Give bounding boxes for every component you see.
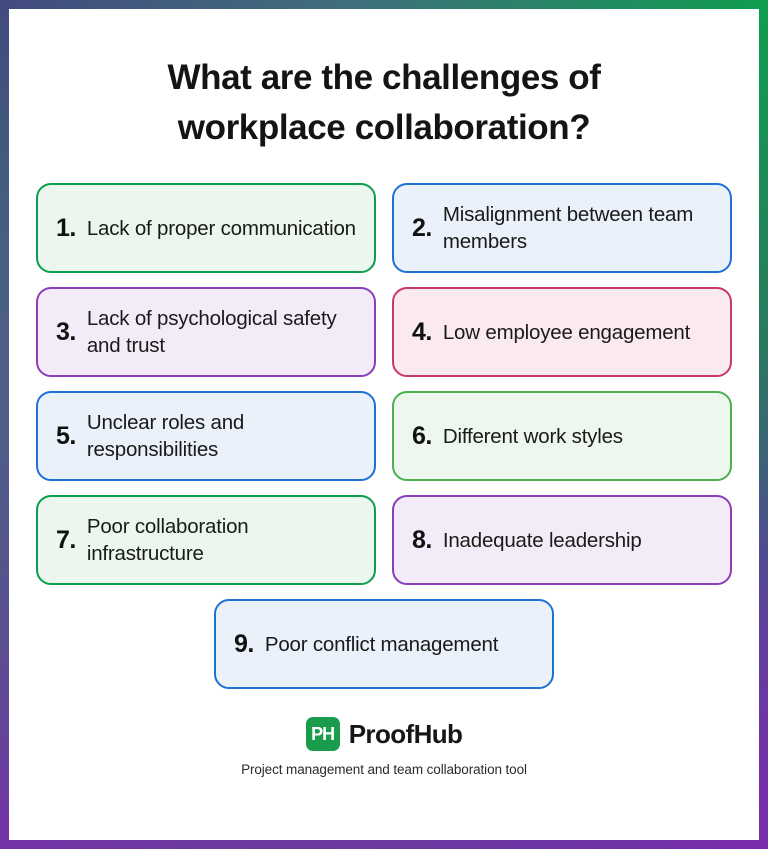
challenge-card-6[interactable]: 6. Different work styles	[392, 391, 732, 481]
brand-tagline: Project management and team collaboratio…	[45, 762, 723, 777]
card-number-9: 9.	[234, 632, 254, 657]
footer: PH ProofHub Project management and team …	[45, 717, 723, 777]
card-number-4: 4.	[412, 320, 432, 345]
challenge-card-7[interactable]: 7. Poor collaboration infrastructure	[36, 495, 376, 585]
card-number-7: 7.	[56, 528, 76, 553]
card-text-2: Misalignment between team members	[443, 201, 714, 256]
card-text-3: Lack of psychological safety and trust	[87, 305, 358, 360]
card-number-3: 3.	[56, 320, 76, 345]
challenge-card-8[interactable]: 8. Inadequate leadership	[392, 495, 732, 585]
challenge-card-1[interactable]: 1. Lack of proper communication	[36, 183, 376, 273]
card-number-8: 8.	[412, 528, 432, 553]
card-text-7: Poor collaboration infrastructure	[87, 513, 358, 568]
challenge-card-grid: 1. Lack of proper communication 2. Misal…	[45, 183, 723, 585]
challenge-card-4[interactable]: 4. Low employee engagement	[392, 287, 732, 377]
challenge-card-row-last: 9. Poor conflict management	[45, 599, 723, 689]
page-title: What are the challenges of workplace col…	[84, 53, 684, 152]
brand-name: ProofHub	[349, 719, 463, 750]
card-number-2: 2.	[412, 216, 432, 241]
proofhub-logo-icon: PH	[306, 717, 340, 751]
infographic-canvas: What are the challenges of workplace col…	[9, 9, 759, 840]
challenge-card-9[interactable]: 9. Poor conflict management	[214, 599, 554, 689]
card-text-8: Inadequate leadership	[443, 527, 642, 554]
card-text-6: Different work styles	[443, 423, 623, 450]
card-text-4: Low employee engagement	[443, 319, 690, 346]
card-text-9: Poor conflict management	[265, 631, 498, 658]
challenge-card-3[interactable]: 3. Lack of psychological safety and trus…	[36, 287, 376, 377]
proofhub-logo[interactable]: PH ProofHub	[45, 717, 723, 751]
proofhub-logo-initials: PH	[311, 725, 334, 743]
challenge-card-5[interactable]: 5. Unclear roles and responsibilities	[36, 391, 376, 481]
card-text-1: Lack of proper communication	[87, 215, 356, 242]
challenge-card-2[interactable]: 2. Misalignment between team members	[392, 183, 732, 273]
card-number-5: 5.	[56, 424, 76, 449]
card-number-6: 6.	[412, 424, 432, 449]
infographic-frame: What are the challenges of workplace col…	[0, 0, 768, 849]
card-text-5: Unclear roles and responsibilities	[87, 409, 358, 464]
card-number-1: 1.	[56, 216, 76, 241]
